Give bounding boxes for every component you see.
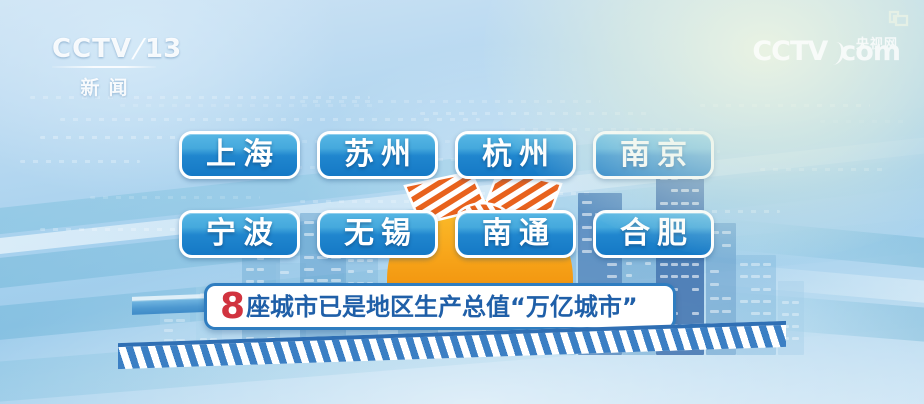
city-chip-6[interactable]: 南通 [455, 210, 576, 258]
skyline-window [681, 189, 689, 192]
cctv-com-watermark: 央视网 CCTV com [752, 36, 900, 67]
skyline-window [710, 270, 719, 273]
skyline-window [607, 275, 617, 278]
skyline-window [692, 263, 700, 266]
background-haze-line [40, 228, 180, 231]
skyline-window [456, 275, 465, 278]
watermark-brand: CCTV [752, 36, 827, 67]
skyline-window [164, 329, 173, 332]
skyline-window [681, 275, 689, 278]
skyline-window [490, 262, 499, 265]
background-haze-line [480, 192, 590, 195]
background-haze-line [700, 104, 870, 107]
skyline-window [681, 263, 689, 266]
city-chip-label: 无锡 [337, 219, 418, 249]
channel-logo-underline [52, 66, 156, 68]
background-haze-line [820, 120, 910, 123]
city-chip-0[interactable]: 上海 [179, 131, 300, 179]
channel-logo-number: 13 [145, 34, 181, 64]
skyline-window [645, 262, 651, 265]
skyline-window [607, 263, 617, 266]
channel-name-label: 新闻 [52, 73, 156, 100]
skyline-window [582, 226, 592, 229]
skyline-window [367, 259, 373, 262]
skyline-window [763, 275, 771, 278]
background-haze-line [60, 118, 480, 121]
skyline-window [692, 189, 700, 192]
skyline-window [490, 275, 499, 278]
skyline-window [692, 312, 700, 315]
skyline-window [671, 275, 679, 278]
skyline-window [348, 259, 354, 262]
skyline-window [722, 231, 731, 234]
skyline-window [671, 202, 679, 205]
skyline-window [425, 259, 433, 262]
skyline-window [317, 279, 327, 282]
skyline-window [348, 270, 354, 273]
skyline-window [554, 265, 561, 268]
city-chip-1[interactable]: 苏州 [317, 131, 438, 179]
city-chip-2[interactable]: 杭州 [455, 131, 576, 179]
skyline-window [763, 300, 771, 303]
skyline-window [502, 262, 511, 265]
skyline-window [763, 288, 771, 291]
background-haze-line [120, 104, 380, 107]
skyline-window [626, 274, 632, 277]
skyline-window [257, 268, 265, 271]
caption-banner: 8 座城市已是地区生产总值“万亿城市” [204, 283, 676, 330]
skyline-window [751, 312, 759, 315]
city-chip-7[interactable]: 合肥 [593, 210, 714, 258]
channel-logo: CCTV / 13 新闻 [52, 34, 181, 100]
city-chip-label: 南通 [475, 219, 556, 249]
picture-in-picture-icon[interactable] [888, 10, 910, 28]
skyline-window [740, 263, 748, 266]
skyline-window [710, 310, 719, 313]
watermark-domain: com [840, 36, 900, 67]
skyline-window [660, 263, 668, 266]
skyline-window [751, 263, 759, 266]
skyline-window [246, 268, 254, 271]
skyline-window [582, 201, 592, 204]
skyline-window [792, 325, 799, 328]
skyline-window [763, 263, 771, 266]
skyline-window [304, 279, 314, 282]
broadcast-screen: 上海 苏州 杭州 南京 宁波 无锡 南通 合肥 8 座城市已是地区生产总值“万亿… [0, 0, 924, 404]
skyline-window [331, 268, 341, 271]
skyline-window [357, 259, 363, 262]
skyline-window [671, 189, 679, 192]
skyline-window [692, 275, 700, 278]
watermark-swoosh-icon [827, 40, 842, 67]
background-haze-line [40, 136, 190, 139]
skyline-window [722, 297, 731, 300]
city-chip-3[interactable]: 南京 [593, 131, 714, 179]
skyline-window [751, 300, 759, 303]
city-chip-label: 上海 [199, 140, 280, 170]
skyline-window [740, 300, 748, 303]
skyline-window [582, 238, 592, 241]
city-chip-label: 南京 [613, 140, 694, 170]
skyline-window [564, 265, 571, 268]
skyline-window [660, 202, 668, 205]
background-haze-line [20, 160, 140, 163]
channel-logo-slash: / [128, 34, 150, 64]
skyline-window [671, 263, 679, 266]
skyline-window [502, 275, 511, 278]
background-haze-line [760, 168, 890, 171]
skyline-window [564, 277, 571, 280]
city-chip-label: 宁波 [199, 219, 280, 249]
skyline-window [164, 319, 173, 322]
background-haze-line [300, 100, 600, 103]
background-haze-line [30, 96, 370, 99]
caption-text: 座城市已是地区生产总值“万亿城市” [246, 295, 638, 319]
background-sweep-band [666, 258, 924, 314]
skyline-window [763, 312, 771, 315]
skyline-window [304, 256, 314, 259]
skyline-window [513, 275, 522, 278]
skyline-window [792, 301, 799, 304]
skyline-window [792, 337, 799, 340]
background-haze-line [420, 112, 650, 115]
skyline-window [751, 275, 759, 278]
skyline-window [304, 221, 314, 224]
skyline-window [582, 250, 592, 253]
skyline-window [751, 288, 759, 291]
skyline-window [660, 275, 668, 278]
skyline-window [413, 259, 421, 262]
skyline-window [681, 202, 689, 205]
skyline-window [792, 313, 799, 316]
city-chip-label: 苏州 [337, 140, 418, 170]
background-haze-line [300, 200, 490, 203]
skyline-window [710, 283, 719, 286]
skyline-window [554, 277, 561, 280]
skyline-window [722, 310, 731, 313]
skyline-window [304, 268, 314, 271]
background-haze-line [90, 196, 260, 199]
skyline-window [331, 279, 341, 282]
skyline-window [782, 313, 789, 316]
skyline-window [582, 213, 592, 216]
skyline-window [626, 262, 632, 265]
city-chip-label: 合肥 [613, 219, 694, 249]
skyline-window [692, 202, 700, 205]
skyline-window [710, 297, 719, 300]
channel-logo-cctv: CCTV [52, 34, 132, 64]
skyline-window [367, 270, 373, 273]
skyline-window [740, 275, 748, 278]
city-chip-label: 杭州 [475, 140, 556, 170]
skyline-window [176, 319, 185, 322]
watermark-cn-label: 央视网 [856, 33, 898, 52]
skyline-window [468, 275, 477, 278]
skyline-window [304, 233, 314, 236]
caption-count: 8 [220, 289, 245, 325]
skyline-window [402, 259, 410, 262]
skyline-window [692, 288, 700, 291]
skyline-window [280, 271, 289, 274]
skyline-window [544, 277, 551, 280]
city-chip-5[interactable]: 无锡 [317, 210, 438, 258]
skyline-window [425, 271, 433, 274]
skyline-window [722, 244, 731, 247]
skyline-window [525, 275, 534, 278]
skyline-window [544, 265, 551, 268]
city-chip-4[interactable]: 宁波 [179, 210, 300, 258]
skyline-window [782, 301, 789, 304]
